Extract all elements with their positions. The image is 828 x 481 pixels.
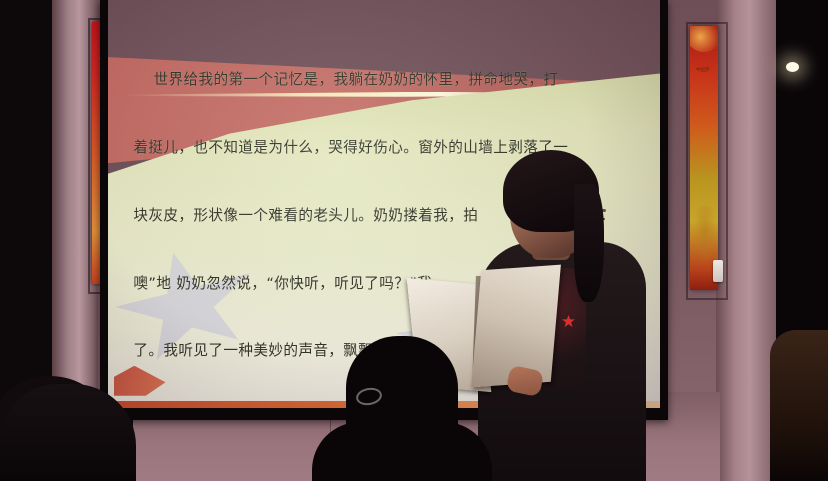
audience-member-right — [770, 330, 828, 481]
ceiling-light-icon — [786, 62, 799, 72]
banner-swirl-decoration — [690, 26, 718, 52]
presenter-hair-side — [574, 184, 604, 302]
slide-text-line: 世界给我的第一个记忆是，我躺在奶奶的怀里，拼命地哭，打 — [133, 69, 641, 92]
audience-member-center — [346, 336, 458, 481]
red-gold-banner: 中国梦 — [690, 26, 718, 290]
banner-figure-illustration — [694, 206, 716, 266]
photo-scene: ☭ 党旗飘扬 中国梦 世界给我的第一个记忆是，我躺在奶奶的怀里，拼命地哭，打 — [0, 0, 828, 481]
audience-shoulders — [312, 422, 492, 481]
light-switch[interactable] — [713, 260, 723, 282]
banner-right-text: 中国梦 — [696, 68, 710, 74]
presenter-woman-reading — [470, 150, 660, 481]
